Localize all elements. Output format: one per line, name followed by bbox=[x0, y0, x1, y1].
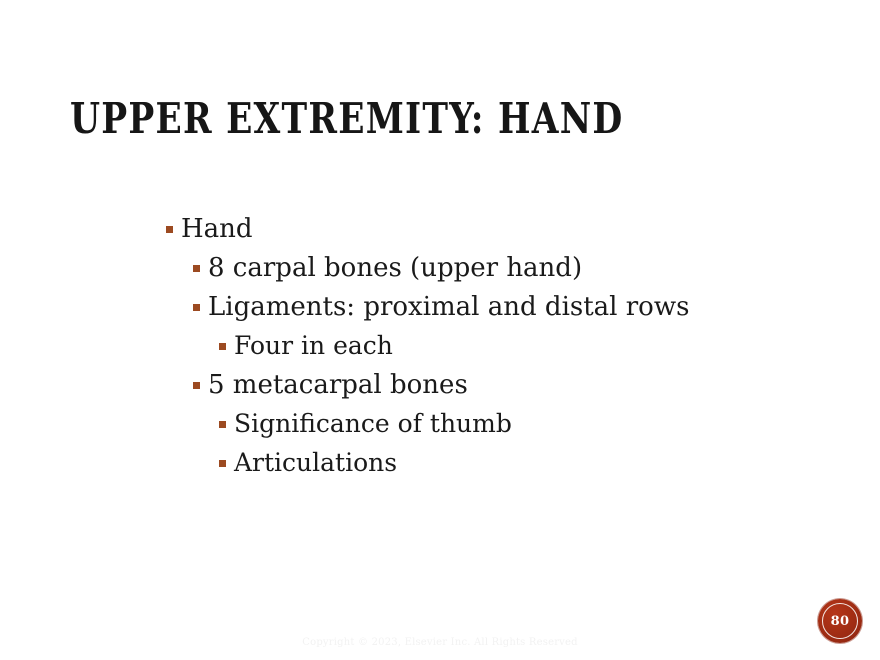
list-item: Ligaments: proximal and distal rows bbox=[166, 292, 856, 331]
bullet-square-icon bbox=[219, 460, 226, 467]
list-item-label: 5 metacarpal bones bbox=[208, 370, 468, 400]
bullet-square-icon bbox=[193, 265, 200, 272]
list-item: Four in each bbox=[166, 331, 856, 370]
list-item-label: Ligaments: proximal and distal rows bbox=[208, 292, 689, 322]
list-item-label: Hand bbox=[181, 214, 253, 244]
bullet-square-icon bbox=[219, 421, 226, 428]
slide: Upper Extremity: Hand Hand 8 carpal bone… bbox=[0, 0, 880, 660]
page-title: Upper Extremity: Hand bbox=[70, 96, 624, 142]
page-number-badge: 80 bbox=[818, 599, 862, 643]
list-item: Hand bbox=[166, 214, 856, 253]
list-item-label: 8 carpal bones (upper hand) bbox=[208, 253, 582, 283]
list-item: 8 carpal bones (upper hand) bbox=[166, 253, 856, 292]
bullet-square-icon bbox=[193, 304, 200, 311]
list-item-label: Significance of thumb bbox=[234, 409, 512, 438]
list-item: 5 metacarpal bones bbox=[166, 370, 856, 409]
bullet-square-icon bbox=[193, 382, 200, 389]
bullet-square-icon bbox=[219, 343, 226, 350]
list-item: Significance of thumb bbox=[166, 409, 856, 448]
list-item-label: Articulations bbox=[234, 448, 397, 477]
bullet-square-icon bbox=[166, 226, 173, 233]
bullet-list: Hand 8 carpal bones (upper hand) Ligamen… bbox=[166, 214, 856, 487]
page-number-label: 80 bbox=[818, 599, 862, 643]
copyright-notice: Copyright © 2023, Elsevier Inc. All Righ… bbox=[0, 637, 880, 648]
list-item-label: Four in each bbox=[234, 331, 393, 360]
list-item: Articulations bbox=[166, 448, 856, 487]
